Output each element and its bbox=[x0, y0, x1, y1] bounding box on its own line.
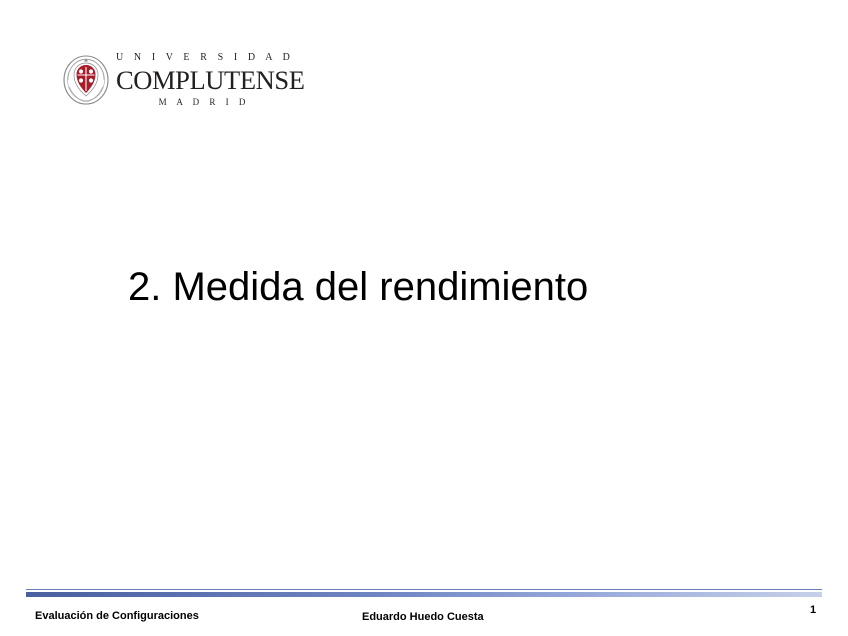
ucm-logo-line-bottom: M A D R I D bbox=[116, 97, 292, 108]
ucm-logo: U N I V E R S I D A D COMPLUTENSE M A D … bbox=[62, 52, 292, 114]
footer-page-number: 1 bbox=[810, 604, 816, 616]
page-title: 2. Medida del rendimiento bbox=[128, 263, 778, 311]
footer-divider-thin bbox=[26, 589, 822, 590]
university-crest-icon bbox=[62, 54, 110, 106]
slide-canvas: U N I V E R S I D A D COMPLUTENSE M A D … bbox=[0, 0, 848, 636]
ucm-logo-line-main: COMPLUTENSE bbox=[116, 65, 292, 95]
ucm-logo-wordmark: U N I V E R S I D A D COMPLUTENSE M A D … bbox=[116, 52, 292, 108]
ucm-logo-line-top: U N I V E R S I D A D bbox=[116, 52, 292, 64]
footer-author-label: Eduardo Huedo Cuesta bbox=[362, 611, 484, 623]
footer-course-label: Evaluación de Configuraciones bbox=[35, 610, 199, 622]
footer-divider-thick bbox=[26, 592, 822, 597]
